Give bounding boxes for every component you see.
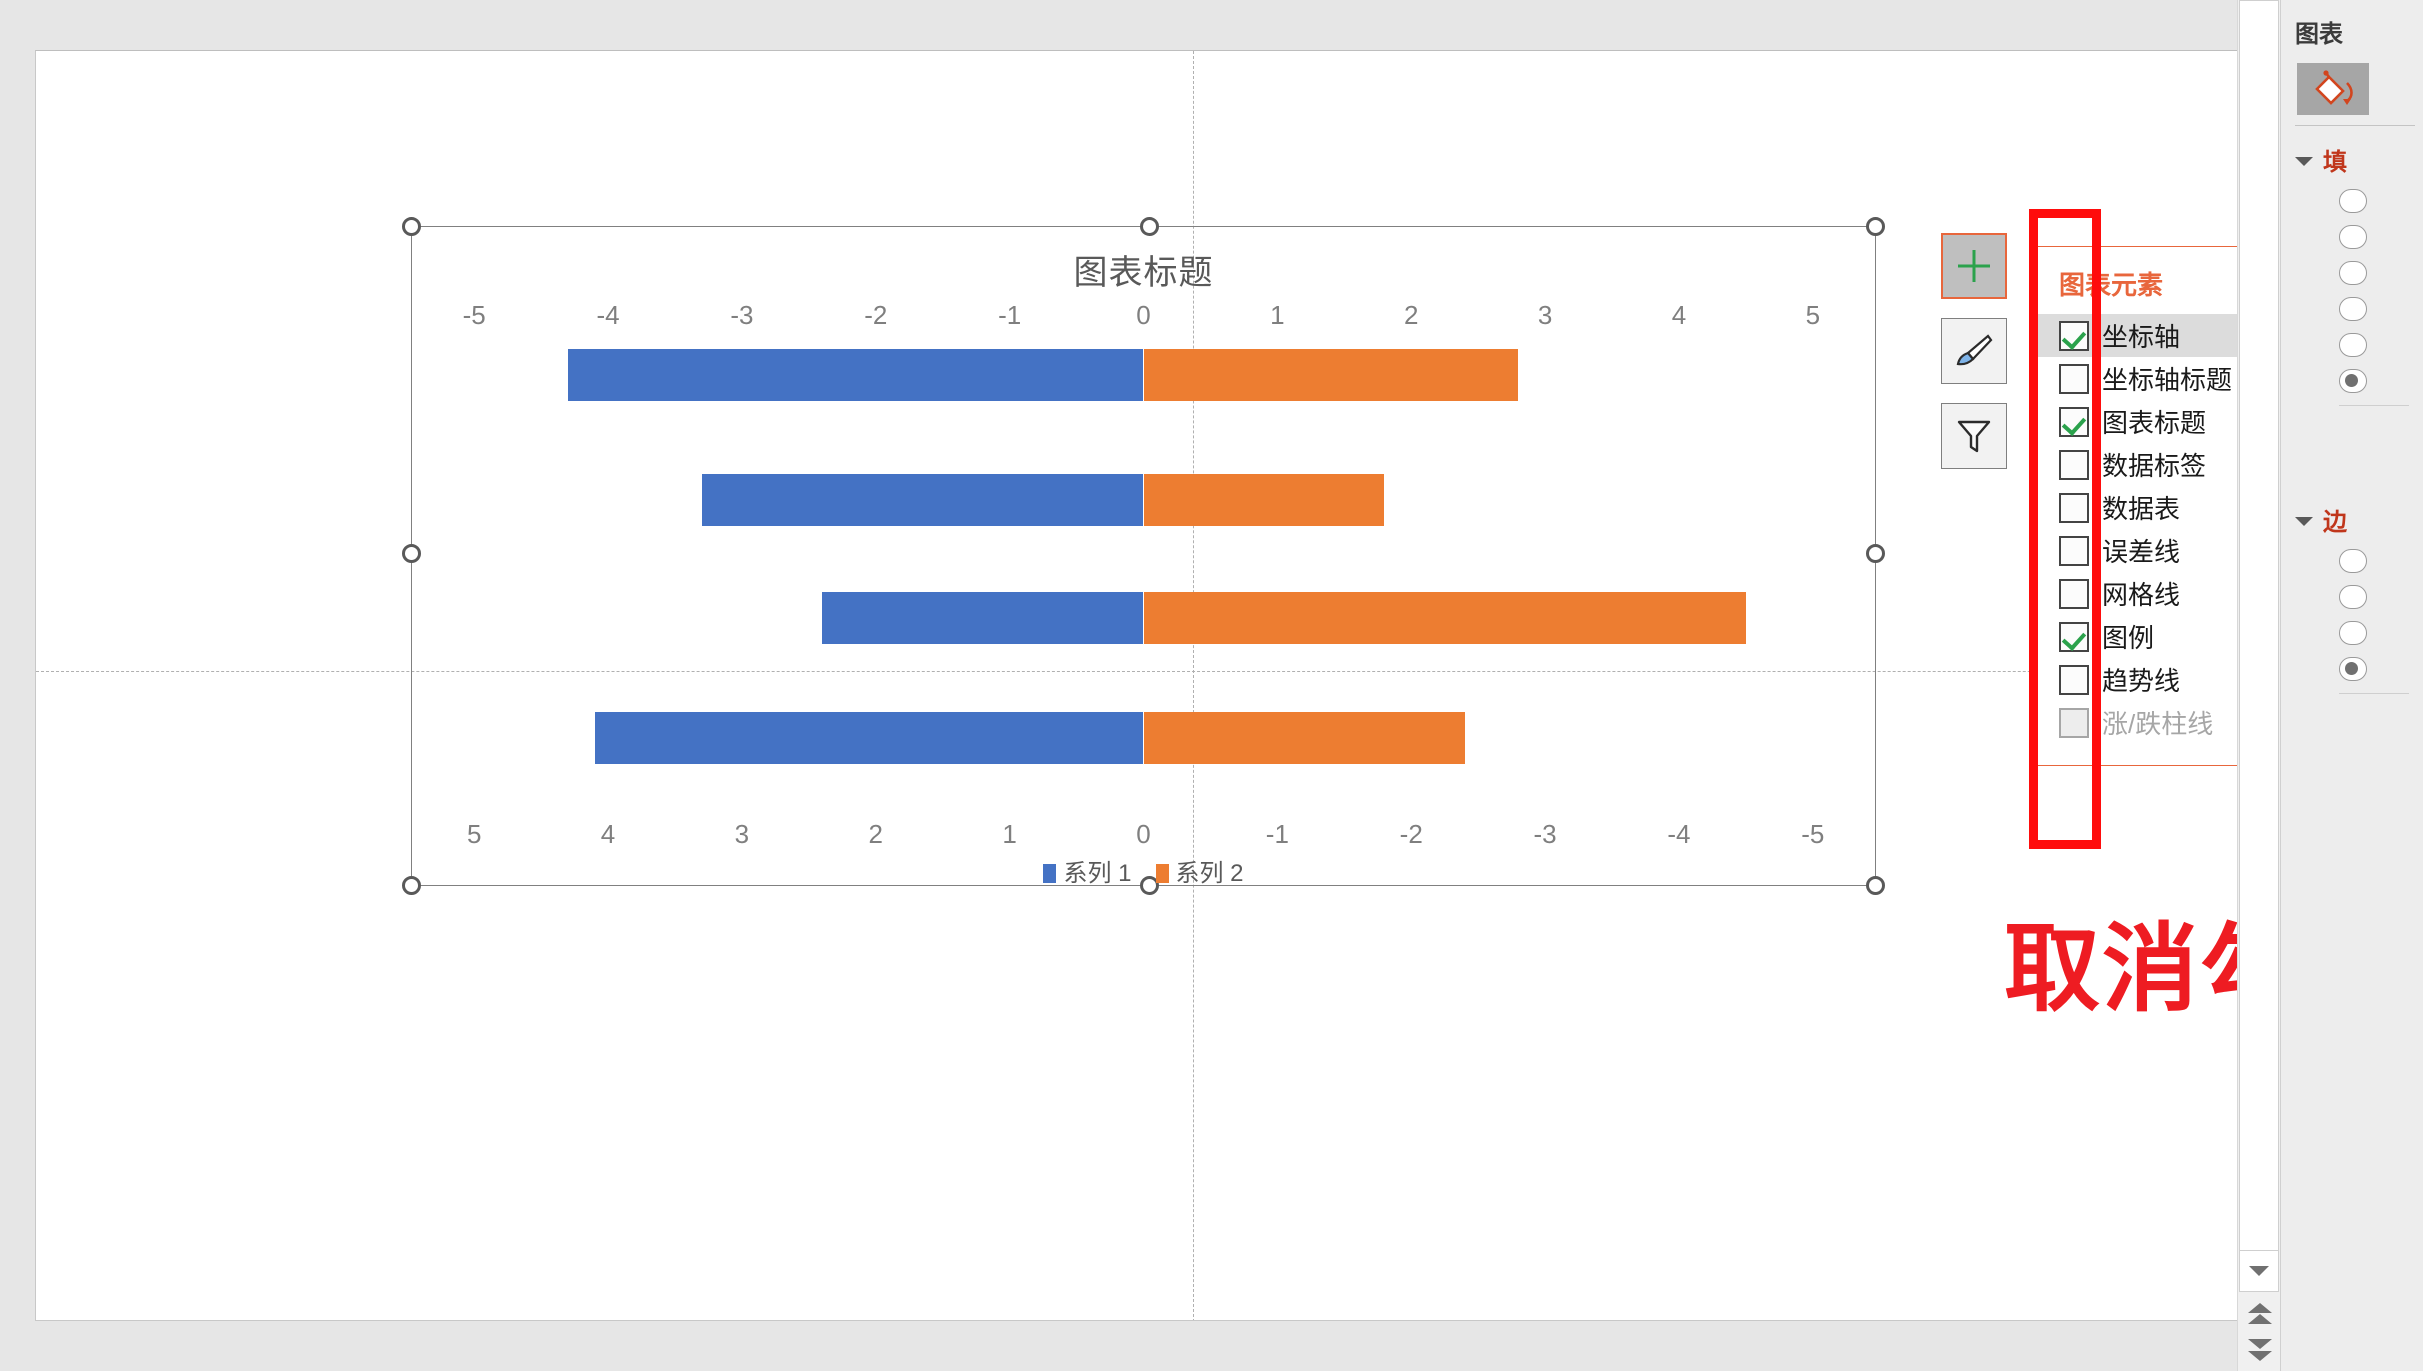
bar-segment-series-2[interactable] [1144,474,1385,526]
axis-tick: 3 [735,819,749,850]
axis-tick: -4 [596,300,619,331]
bar-segment-series-1[interactable] [702,474,1144,526]
pane-inner-divider-fill [2339,405,2409,406]
presentation-slide[interactable]: 图表标题 -5-4-3-2-1012345 543210-1-2-3-4-5 系… [35,50,2280,1321]
chart-bar-row[interactable] [412,712,1875,764]
chart-plot-area[interactable] [412,339,1875,809]
axis-tick: 2 [869,819,883,850]
fill-option-1[interactable] [2339,189,2367,213]
pane-inner-divider-border [2339,693,2409,694]
chart-element-label: 趋势线 [2102,661,2180,698]
bar-segment-series-1[interactable] [822,592,1143,644]
fill-option-5[interactable] [2339,333,2367,357]
border-option-1[interactable] [2339,549,2367,573]
bar-segment-series-2[interactable] [1144,712,1465,764]
chart-bar-row[interactable] [412,474,1875,526]
previous-slide-button[interactable] [2242,1300,2278,1330]
chart-legend[interactable]: 系列 1系列 2 [412,853,1875,888]
chart-styles-button[interactable] [1941,318,2007,384]
chart-element-label: 误差线 [2102,532,2180,569]
fill-option-2[interactable] [2339,225,2367,249]
scrollbar-down-button[interactable] [2239,1250,2279,1292]
axis-tick: -1 [998,300,1021,331]
border-option-4[interactable] [2339,657,2367,681]
collapse-triangle-icon [2295,157,2313,166]
brush-icon [1954,331,1994,371]
pane-title: 图表 [2295,14,2423,49]
border-option-3[interactable] [2339,621,2367,645]
chart-element-label: 涨/跌柱线 [2102,704,2213,741]
chart-element-label: 网格线 [2102,575,2180,612]
pane-section-fill-label: 填 [2323,142,2347,177]
axis-tick: 2 [1404,300,1418,331]
axis-tick: 1 [1002,819,1016,850]
bar-segment-series-1[interactable] [568,349,1144,401]
axis-tick: -2 [1400,819,1423,850]
chart-axis-top[interactable]: -5-4-3-2-1012345 [412,300,1875,330]
bar-segment-series-1[interactable] [595,712,1144,764]
legend-item-series-1[interactable]: 系列 1 [1043,860,1131,887]
chart-bar-row[interactable] [412,349,1875,401]
scrollbar-thumb[interactable] [2239,0,2279,1255]
double-chevron-down-icon [2242,1336,2278,1366]
bar-segment-series-2[interactable] [1144,349,1519,401]
axis-tick: -2 [864,300,887,331]
fill-option-6[interactable] [2339,369,2367,393]
fill-option-3[interactable] [2339,261,2367,285]
chart-quick-buttons [1941,233,2007,488]
next-slide-button[interactable] [2242,1336,2278,1366]
axis-tick: 4 [601,819,615,850]
legend-swatch-series-1 [1043,864,1056,883]
fill-and-line-tab[interactable] [2297,63,2369,115]
axis-tick: 0 [1136,819,1150,850]
axis-tick: -4 [1667,819,1690,850]
chart-title[interactable]: 图表标题 [412,245,1875,294]
axis-tick: 3 [1538,300,1552,331]
chart-element-label: 坐标轴 [2102,317,2180,354]
pane-divider [2295,125,2415,126]
plus-icon [1955,247,1993,285]
resize-handle-top-left[interactable] [402,217,421,236]
format-chart-area-pane[interactable]: 图表 填 边 [2280,0,2423,1371]
chart-element-label: 数据表 [2102,489,2180,526]
bar-segment-series-2[interactable] [1144,592,1746,644]
chart-element-label: 图例 [2102,618,2154,655]
chart-bar-row[interactable] [412,592,1875,644]
axis-tick: -1 [1266,819,1289,850]
axis-tick: -5 [1801,819,1824,850]
axis-tick: -3 [730,300,753,331]
chart-element-label: 数据标签 [2102,446,2206,483]
resize-handle-top-center[interactable] [1140,217,1159,236]
axis-tick: 1 [1270,300,1284,331]
fill-option-4[interactable] [2339,297,2367,321]
chart-element-label: 图表标题 [2102,403,2206,440]
paint-bucket-icon [2309,69,2357,109]
chart-axis-bottom[interactable]: 543210-1-2-3-4-5 [412,819,1875,849]
chevron-down-icon [2248,1264,2270,1278]
border-option-2[interactable] [2339,585,2367,609]
vertical-scrollbar[interactable] [2237,0,2280,1371]
funnel-icon [1955,417,1993,455]
legend-item-series-2[interactable]: 系列 2 [1156,860,1244,887]
double-chevron-up-icon [2242,1300,2278,1330]
chart-filters-button[interactable] [1941,403,2007,469]
resize-handle-top-right[interactable] [1866,217,1885,236]
axis-tick: 5 [1806,300,1820,331]
collapse-triangle-icon [2295,517,2313,526]
legend-label-series-1: 系列 1 [1063,860,1131,887]
pane-section-border-label: 边 [2323,502,2347,537]
chart-object[interactable]: 图表标题 -5-4-3-2-1012345 543210-1-2-3-4-5 系… [411,226,1876,886]
axis-tick: 0 [1136,300,1150,331]
axis-tick: -5 [463,300,486,331]
axis-tick: -3 [1534,819,1557,850]
legend-label-series-2: 系列 2 [1176,860,1244,887]
axis-tick: 5 [467,819,481,850]
legend-swatch-series-2 [1156,864,1169,883]
pane-section-border[interactable]: 边 [2295,502,2423,537]
annotation-highlight-box [2029,209,2101,849]
pane-section-fill[interactable]: 填 [2295,142,2423,177]
chart-elements-button[interactable] [1941,233,2007,299]
chart-element-label: 坐标轴标题 [2102,360,2232,397]
axis-tick: 4 [1672,300,1686,331]
